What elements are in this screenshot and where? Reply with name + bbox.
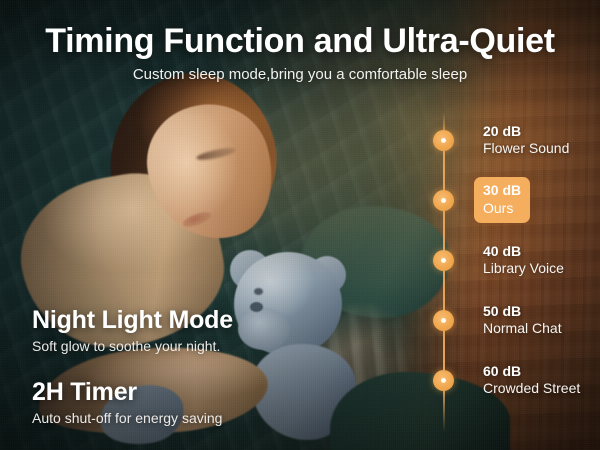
noise-item-text-highlighted: 30 dB Ours <box>474 177 530 222</box>
noise-timeline-item: 20 dB Flower Sound <box>424 118 600 162</box>
noise-value: 20 dB <box>483 123 569 140</box>
timeline-dot-icon <box>433 130 454 151</box>
teddy-bear-eye <box>254 288 263 295</box>
noise-label: Library Voice <box>483 260 564 277</box>
feature-night-light-mode: Night Light Mode Soft glow to soothe you… <box>32 306 233 354</box>
noise-timeline-item: 60 dB Crowded Street <box>424 358 600 402</box>
noise-timeline-item: 40 dB Library Voice <box>424 238 600 282</box>
timeline-dot-icon <box>433 250 454 271</box>
noise-level-timeline: 20 dB Flower Sound 30 dB Ours 40 dB Libr… <box>424 112 600 432</box>
timeline-dot-icon <box>433 190 454 211</box>
noise-label: Crowded Street <box>483 380 580 397</box>
timeline-dot-icon <box>433 370 454 391</box>
noise-value: 40 dB <box>483 243 564 260</box>
teddy-bear-muzzle <box>238 308 290 350</box>
noise-value: 60 dB <box>483 363 580 380</box>
feature-title: Night Light Mode <box>32 306 233 334</box>
page-subtitle: Custom sleep mode,bring you a comfortabl… <box>0 66 600 83</box>
feature-subtitle: Soft glow to soothe your night. <box>32 338 233 354</box>
noise-item-text: 20 dB Flower Sound <box>483 123 569 157</box>
page-title: Timing Function and Ultra-Quiet <box>0 22 600 61</box>
timeline-dot-icon <box>433 310 454 331</box>
noise-item-text: 50 dB Normal Chat <box>483 303 562 337</box>
product-feature-poster: Timing Function and Ultra-Quiet Custom s… <box>0 0 600 450</box>
noise-item-text: 40 dB Library Voice <box>483 243 564 277</box>
noise-value: 50 dB <box>483 303 562 320</box>
noise-item-text: 60 dB Crowded Street <box>483 363 580 397</box>
feature-2h-timer: 2H Timer Auto shut-off for energy saving <box>32 378 222 426</box>
noise-label: Ours <box>483 200 521 217</box>
feature-subtitle: Auto shut-off for energy saving <box>32 410 222 426</box>
noise-label: Flower Sound <box>483 140 569 157</box>
teddy-bear-nose <box>250 302 263 312</box>
noise-timeline-item: 50 dB Normal Chat <box>424 298 600 342</box>
noise-label: Normal Chat <box>483 320 562 337</box>
feature-title: 2H Timer <box>32 378 222 406</box>
noise-timeline-item-ours: 30 dB Ours <box>424 178 600 222</box>
noise-value: 30 dB <box>483 182 521 199</box>
